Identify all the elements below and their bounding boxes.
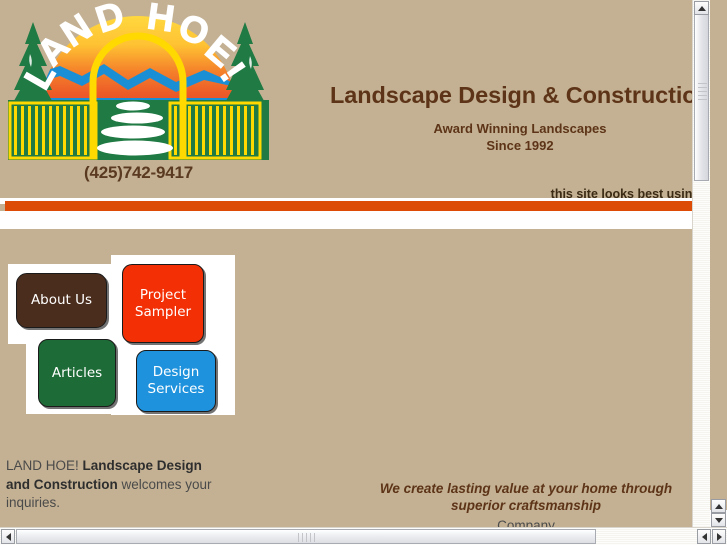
welcome-paragraph: LAND HOE! Landscape Design and Construct… [6, 457, 221, 513]
land-hoe-logo[interactable]: L A N D H O E ! (425)742-9417 [0, 0, 277, 166]
scroll-left-button[interactable] [1, 529, 15, 544]
nav-button-about-us[interactable]: About Us [16, 273, 107, 328]
triangle-left-icon [702, 533, 707, 541]
web-page-content: L A N D H O E ! (425)742-9417 Landscape … [0, 0, 710, 528]
browser-viewport: L A N D H O E ! (425)742-9417 Landscape … [0, 0, 727, 545]
scroll-page-up-button[interactable] [711, 499, 726, 513]
divider-white-bottom [0, 211, 710, 229]
scroll-up-button[interactable] [694, 1, 709, 15]
triangle-down-icon [715, 518, 723, 523]
logo-phone-number: (425)742-9417 [0, 163, 277, 183]
page-title: Landscape Design & Construction [330, 82, 710, 109]
main-navigation: About Us Project Sampler Articles Design… [0, 255, 250, 440]
nav-button-articles-label: Articles [52, 365, 102, 382]
header-subtitle-award: Award Winning Landscapes [330, 121, 710, 136]
scrollbar-grip-icon [297, 533, 315, 542]
triangle-up-icon [698, 6, 706, 11]
horizontal-scrollbar-thumb[interactable] [16, 529, 596, 544]
nav-button-design-services-label-line1: Design [148, 364, 205, 381]
triangle-left-icon [6, 533, 11, 541]
nav-button-design-services[interactable]: Design Services [136, 350, 216, 412]
header-subtitle-since: Since 1992 [330, 138, 710, 153]
vertical-scrollbar[interactable] [692, 0, 710, 528]
horizontal-scrollbar[interactable] [0, 527, 727, 545]
nav-button-project-sampler[interactable]: Project Sampler [122, 264, 204, 343]
triangle-right-icon [717, 533, 722, 541]
nav-button-design-services-label-line2: Services [148, 381, 205, 398]
logo-artwork: L A N D H O E ! [0, 0, 277, 166]
scrollbar-grip-icon [698, 83, 707, 101]
welcome-lead: LAND HOE! [6, 458, 83, 473]
scroll-left-button-secondary[interactable] [697, 529, 711, 544]
nav-button-project-sampler-label-line2: Sampler [135, 304, 191, 321]
nav-button-project-sampler-label-line1: Project [135, 287, 191, 304]
scroll-right-button[interactable] [712, 529, 726, 544]
nav-button-articles[interactable]: Articles [38, 339, 116, 407]
scroll-down-button[interactable] [711, 513, 726, 527]
company-tagline: We create lasting value at your home thr… [352, 481, 700, 514]
triangle-up-icon [715, 504, 723, 509]
vertical-scrollbar-thumb[interactable] [694, 3, 709, 181]
nav-button-about-us-label: About Us [31, 292, 92, 309]
